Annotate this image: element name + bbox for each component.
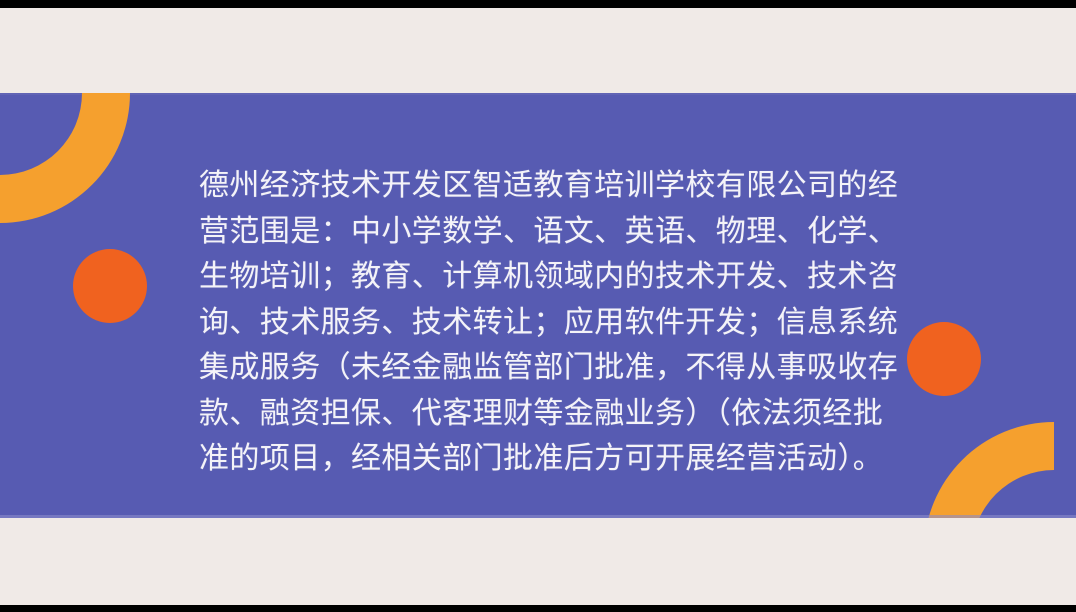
slide-screen: 德州经济技术开发区智适教育培训学校有限公司的经 营范围是：中小学数学、语文、英语…	[0, 0, 1076, 612]
body-line: 生物培训；教育、计算机领域内的技术开发、技术咨	[199, 254, 881, 300]
business-scope-text: 德州经济技术开发区智适教育培训学校有限公司的经 营范围是：中小学数学、语文、英语…	[199, 163, 881, 482]
panel-bottom-edge-highlight	[0, 515, 1076, 518]
body-line: 集成服务（未经金融监管部门批准，不得从事吸收存	[199, 345, 881, 391]
body-line: 款、融资担保、代客理财等金融业务）（依法须经批	[199, 391, 881, 437]
body-line: 询、技术服务、技术转让；应用软件开发；信息系统	[199, 300, 881, 346]
body-line: 准的项目，经相关部门批准后方可开展经营活动）。	[199, 436, 881, 482]
arc-shape	[924, 422, 1054, 518]
arc-shape	[0, 93, 130, 223]
panel-top-edge-highlight	[0, 93, 1076, 95]
body-line: 德州经济技术开发区智适教育培训学校有限公司的经	[199, 163, 881, 209]
body-line: 营范围是：中小学数学、语文、英语、物理、化学、	[199, 209, 881, 255]
letterbox-top-bar	[0, 0, 1076, 8]
dot-shape	[907, 322, 981, 396]
letterbox-bottom-bar	[0, 605, 1076, 612]
dot-shape	[73, 249, 147, 323]
